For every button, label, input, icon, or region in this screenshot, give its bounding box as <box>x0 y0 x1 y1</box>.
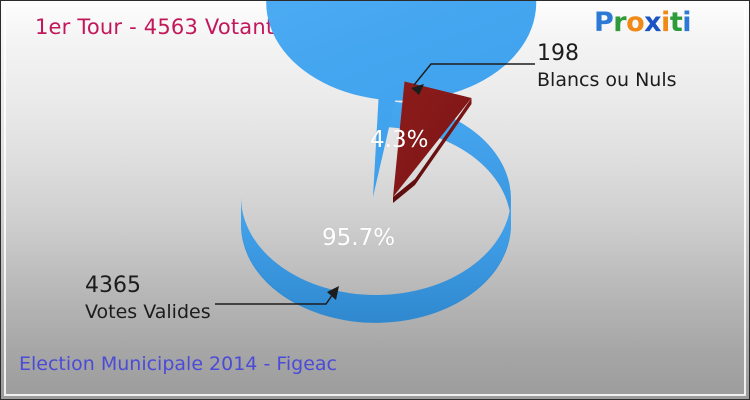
footer-caption: Election Municipale 2014 - Figeac <box>19 353 337 375</box>
callout-blancs-label: Blancs ou Nuls <box>537 67 677 93</box>
slice-percent-blancs: 4.3% <box>370 127 428 153</box>
slice-percent-valides: 95.7% <box>322 225 395 251</box>
callout-valides-label: Votes Valides <box>85 299 211 325</box>
pie-slice-votes-valides <box>241 1 536 323</box>
callout-blancs-value: 198 <box>537 41 677 67</box>
chart-page: 1er Tour - 4563 Votants - Votes Blancs o… <box>0 0 750 400</box>
pie-slice-valides-depth <box>241 197 511 321</box>
callout-valides-value: 4365 <box>85 273 211 299</box>
callout-votes-valides: 4365 Votes Valides <box>85 273 211 325</box>
callout-blancs-ou-nuls: 198 Blancs ou Nuls <box>537 41 677 93</box>
